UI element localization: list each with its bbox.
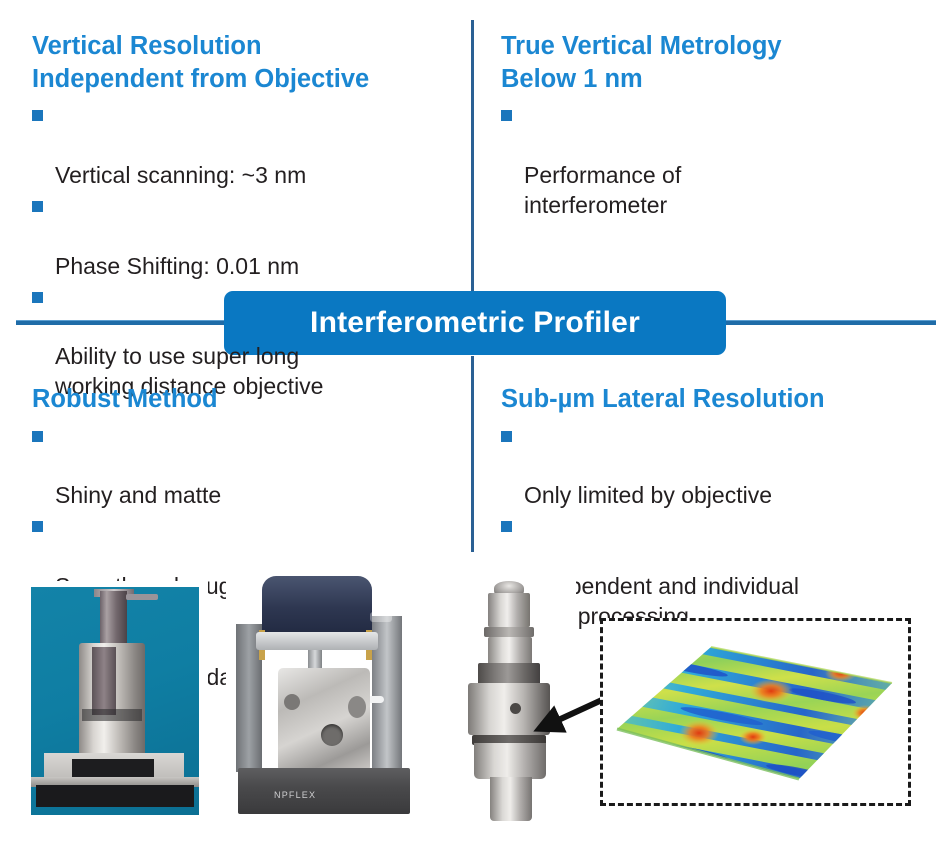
square-bullet-icon [501, 521, 512, 532]
photo-npflex-instrument: NPFLEX [226, 572, 422, 834]
camshaft-segment-1 [488, 593, 530, 627]
photo-interferometer-objective-on-stage [22, 581, 208, 834]
list-item: Shiny and matte [32, 422, 452, 512]
quadrant-heading-top-left: Vertical Resolution Independent from Obj… [32, 30, 452, 95]
square-bullet-icon [501, 110, 512, 121]
stage-base [36, 785, 194, 807]
list-item: Only limited by objective [501, 422, 931, 512]
instrument-head [262, 576, 372, 634]
square-bullet-icon [32, 292, 43, 303]
camshaft-segment-3 [488, 637, 532, 665]
quadrant-true-vertical-metrology: True Vertical Metrology Below 1 nm Perfo… [501, 30, 931, 222]
list-item-label: Phase Shifting: 0.01 nm [55, 253, 299, 279]
square-bullet-icon [32, 521, 43, 532]
divider-vertical-bottom [471, 356, 474, 552]
square-bullet-icon [32, 201, 43, 212]
list-item-label: Vertical scanning: ~3 nm [55, 162, 306, 188]
camshaft-segment-7 [474, 743, 546, 779]
square-bullet-icon [32, 431, 43, 442]
bullet-list-top-left: Vertical scanning: ~3 nm Phase Shifting:… [32, 101, 452, 402]
list-item-label: Shiny and matte [55, 482, 221, 508]
engine-block-sample [278, 668, 370, 772]
square-bullet-icon [501, 431, 512, 442]
granite-base [238, 768, 410, 814]
bullet-list-top-right: Performance of interferometer [501, 101, 931, 221]
quadrant-heading-bottom-right: Sub-µm Lateral Resolution [501, 383, 931, 416]
bore-window [82, 709, 142, 721]
camshaft-segment-2 [484, 627, 534, 637]
divider-horizontal-right [725, 320, 936, 325]
objective-shaft [100, 591, 127, 651]
head-carriage [256, 632, 378, 650]
image-strip: NPFLEX [0, 560, 950, 848]
mount-arm [126, 594, 158, 600]
objective-inside-bore [92, 647, 116, 715]
surface-map-callout-box [600, 618, 911, 806]
quadrant-vertical-resolution: Vertical Resolution Independent from Obj… [32, 30, 452, 403]
divider-vertical-top [471, 20, 474, 291]
list-item: Performance of interferometer [501, 101, 931, 221]
instrument-base-label: NPFLEX [274, 790, 316, 800]
list-item: Vertical scanning: ~3 nm [32, 101, 452, 191]
engine-block-bore-3 [348, 696, 366, 718]
camshaft-segment-8 [490, 777, 532, 821]
square-bullet-icon [32, 110, 43, 121]
list-item-label: Only limited by objective [524, 482, 772, 508]
engine-block-bore-1 [321, 724, 343, 746]
list-item-label: Performance of interferometer [524, 162, 681, 218]
3d-surface-topography-map [603, 621, 908, 803]
engine-block-bore-2 [284, 694, 300, 710]
list-item: Phase Shifting: 0.01 nm [32, 192, 452, 282]
brand-logo-icon [370, 612, 392, 622]
quadrant-heading-bottom-left: Robust Method [32, 383, 452, 416]
quadrant-heading-top-right: True Vertical Metrology Below 1 nm [501, 30, 931, 95]
